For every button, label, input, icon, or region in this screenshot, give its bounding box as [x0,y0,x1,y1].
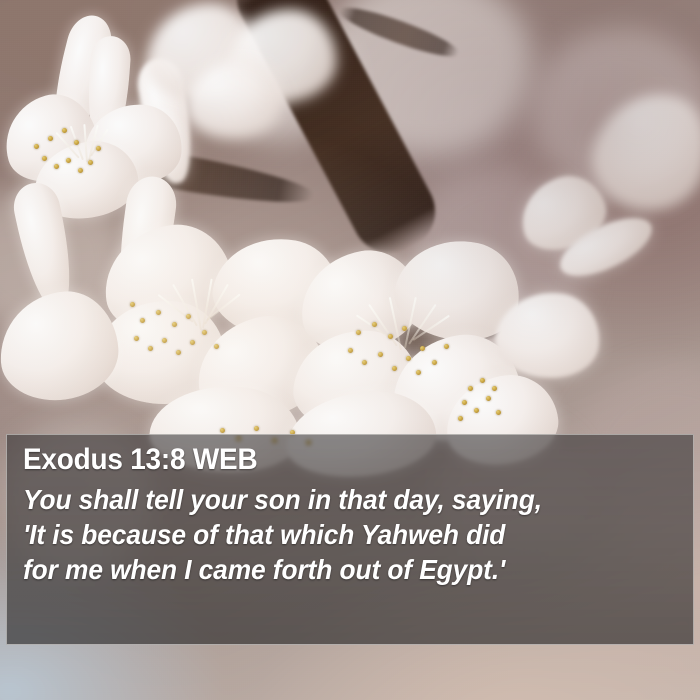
verse-overlay-panel: Exodus 13:8 WEB You shall tell your son … [6,434,694,645]
verse-text-block: Exodus 13:8 WEB You shall tell your son … [23,441,683,587]
verse-line: for me when I came forth out of Egypt.' [23,552,643,587]
verse-image-card: Exodus 13:8 WEB You shall tell your son … [0,0,700,700]
verse-reference: Exodus 13:8 WEB [23,441,637,479]
verse-line: You shall tell your son in that day, say… [23,482,643,517]
stamen-cluster [452,366,542,438]
verse-body: You shall tell your son in that day, say… [23,482,643,587]
stamen-cluster [26,116,136,186]
verse-line: 'It is because of that which Yahweh did [23,517,643,552]
stamen-cluster [126,278,266,370]
